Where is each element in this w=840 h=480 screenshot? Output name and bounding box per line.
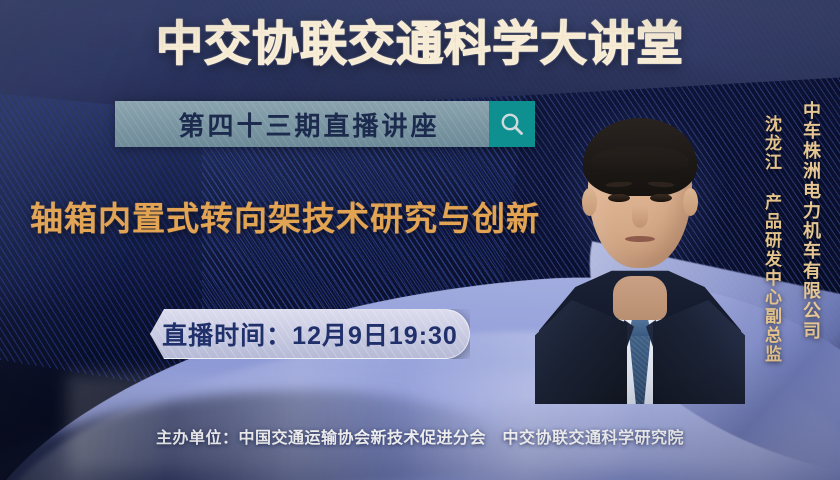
search-icon bbox=[499, 111, 525, 137]
live-time-text: 直播时间：12月9日19:30 bbox=[162, 316, 458, 352]
webinar-poster: 中交协联交通科学大讲堂 第四十三期直播讲座 轴箱内置式转向架技术研究与创新 直播… bbox=[0, 0, 840, 480]
organizers-footer: 主办单位：中国交通运输协会新技术促进分会 中交协联交通科学研究院 bbox=[0, 424, 840, 448]
portrait-eye-left bbox=[608, 194, 630, 202]
lecture-topic: 轴箱内置式转向架技术研究与创新 bbox=[30, 196, 590, 242]
speaker-name-role: 沈龙江 产品研发中心副总监 bbox=[759, 115, 784, 364]
episode-banner: 第四十三期直播讲座 bbox=[115, 101, 535, 147]
speaker-company: 中车株洲电力机车有限公司 bbox=[798, 101, 824, 341]
portrait-ear-right bbox=[683, 188, 698, 216]
episode-label: 第四十三期直播讲座 bbox=[115, 106, 489, 143]
search-button[interactable] bbox=[489, 101, 535, 147]
portrait-nose bbox=[632, 206, 648, 228]
portrait-mouth bbox=[625, 236, 655, 242]
live-time-pill: 直播时间：12月9日19:30 bbox=[150, 309, 470, 359]
page-title: 中交协联交通科学大讲堂 bbox=[0, 14, 840, 74]
portrait-eye-right bbox=[650, 194, 672, 202]
portrait-neck bbox=[613, 276, 667, 320]
speaker-portrait bbox=[551, 104, 729, 404]
